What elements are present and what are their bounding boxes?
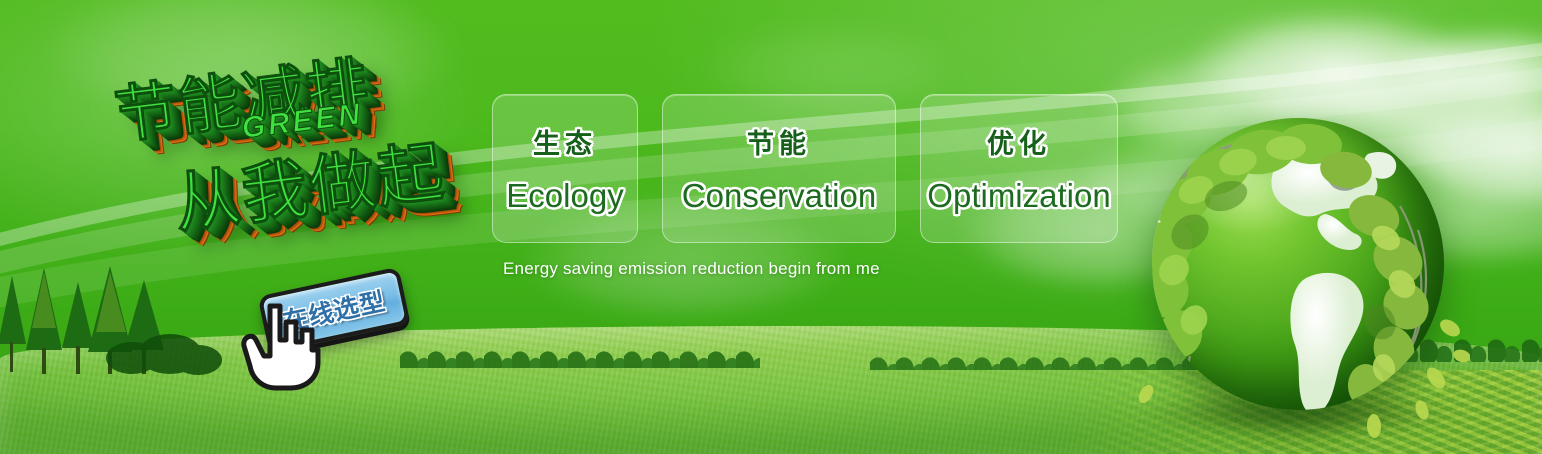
banner-subtitle: Energy saving emission reduction begin f… [503, 259, 880, 279]
feature-card-cn-label: 优化 [987, 122, 1051, 161]
hero-title-3d: 节能减排 GREEN 从我做起 [91, 22, 496, 297]
feature-card-optimization[interactable]: 优化 Optimization [920, 94, 1118, 243]
conifer-tree-icon [400, 334, 760, 368]
pointing-hand-cursor-icon [240, 300, 324, 392]
feature-card-en-label: Optimization [927, 177, 1110, 215]
green-energy-banner: 节能减排 GREEN 从我做起 在线选型 生态 Ecology 节能 Conse… [0, 0, 1542, 454]
feature-card-en-label: Ecology [506, 177, 623, 215]
feature-card-conservation[interactable]: 节能 Conservation [662, 94, 896, 243]
globe-continents-and-vines [1130, 110, 1470, 440]
leafy-earth-globe-icon [1130, 110, 1470, 440]
feature-card-list: 生态 Ecology 节能 Conservation 优化 Optimizati… [492, 94, 1118, 243]
feature-card-en-label: Conservation [682, 177, 876, 215]
feature-card-ecology[interactable]: 生态 Ecology [492, 94, 638, 243]
feature-card-cn-label: 节能 [747, 122, 811, 161]
feature-card-cn-label: 生态 [533, 122, 597, 161]
